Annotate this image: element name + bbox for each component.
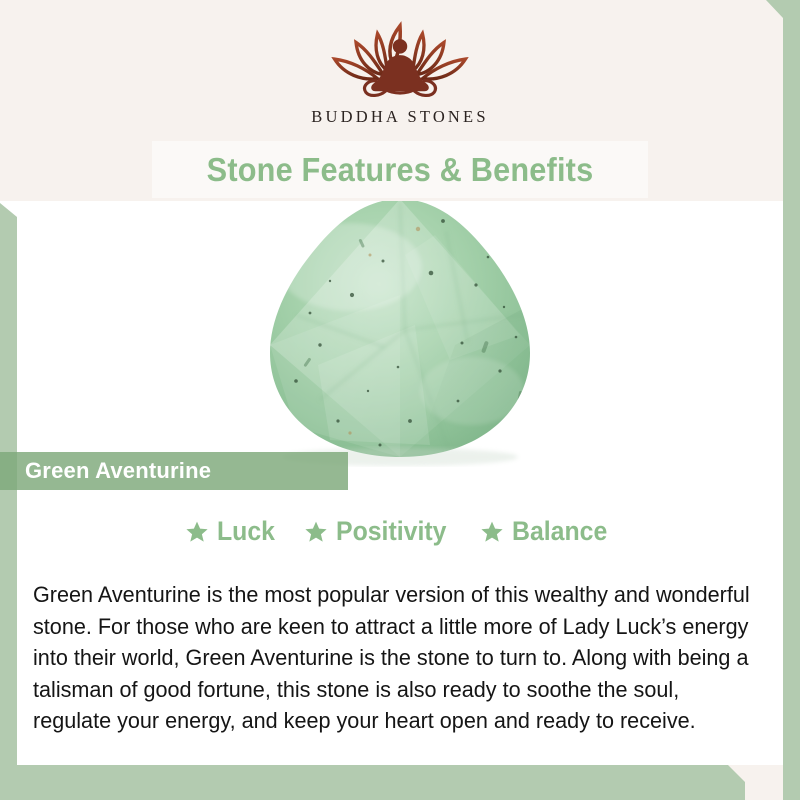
- star-icon: [185, 520, 209, 544]
- infographic-page: BUDDHA STONES Stone Features & Benefits: [0, 0, 800, 800]
- feature-label: Luck: [217, 516, 275, 547]
- feature-label: Positivity: [336, 516, 446, 547]
- feature-item: Positivity: [304, 516, 456, 547]
- feature-item: Luck: [185, 516, 280, 547]
- feature-list: Luck Positivity Balance: [0, 516, 800, 547]
- brand-name: BUDDHA STONES: [311, 107, 488, 127]
- star-icon: [480, 520, 504, 544]
- feature-item: Balance: [480, 516, 616, 547]
- feature-label: Balance: [512, 516, 607, 547]
- product-description: Green Aventurine is the most popular ver…: [33, 579, 751, 737]
- lotus-meditation-figure-icon: [315, 18, 485, 104]
- star-icon: [304, 520, 328, 544]
- frame-border-bottom: [0, 765, 800, 800]
- page-title: Stone Features & Benefits: [28, 141, 772, 198]
- brand-logo: BUDDHA STONES: [0, 18, 800, 138]
- product-image: [17, 201, 783, 467]
- product-label: Green Aventurine: [0, 458, 211, 484]
- product-label-band: Green Aventurine: [0, 452, 348, 490]
